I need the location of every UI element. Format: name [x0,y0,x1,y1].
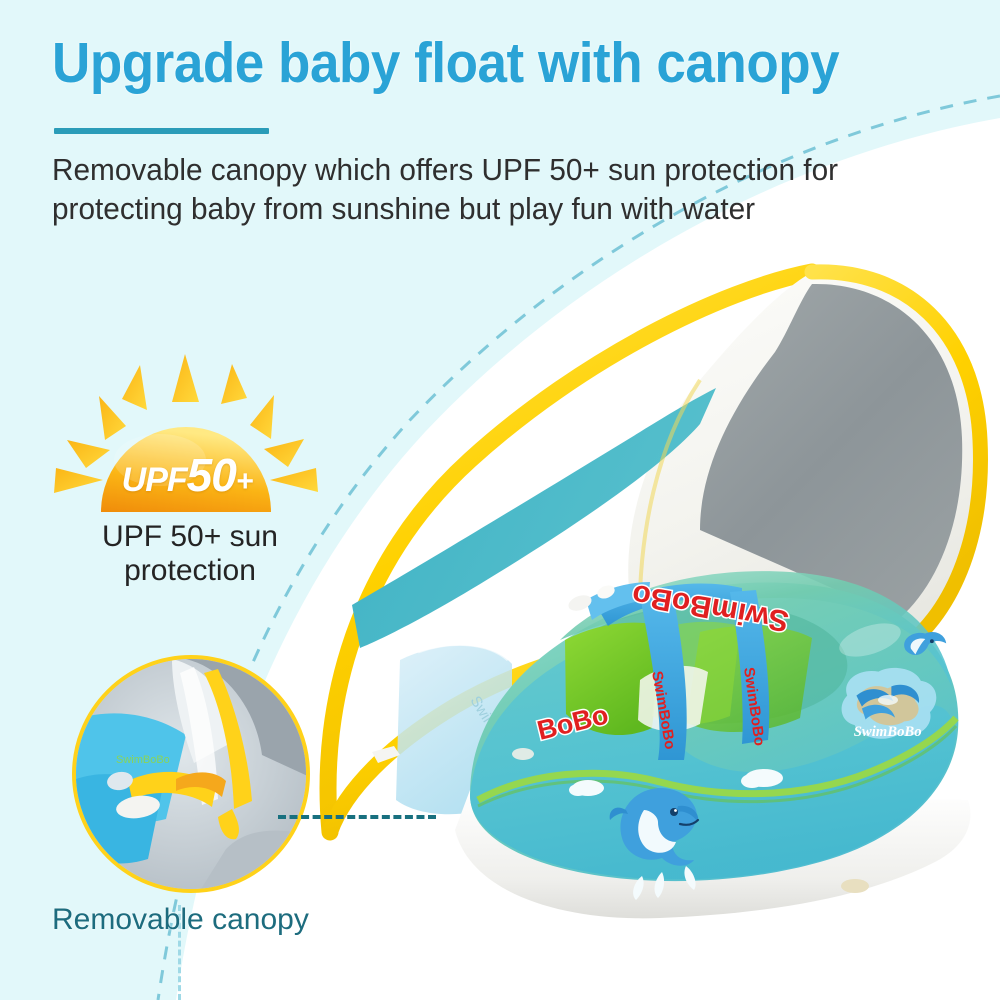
inset-caption: Removable canopy [52,903,309,937]
upf-sun-icon: UPF50+ [52,352,322,512]
upf-badge-text: UPF50+ [52,448,322,502]
detail-inset-circle: SwimBoBo [72,655,310,893]
upf-caption: UPF 50+ sun protection [60,520,320,588]
inset-connector-line [278,815,436,819]
infographic-root: Upgrade baby float with canopy Removable… [0,0,1000,1000]
svg-text:SwimBoBo: SwimBoBo [116,754,170,766]
page-subtitle: Removable canopy which offers UPF 50+ su… [52,150,849,228]
page-title: Upgrade baby float with canopy [52,32,898,94]
title-underline [54,128,269,134]
